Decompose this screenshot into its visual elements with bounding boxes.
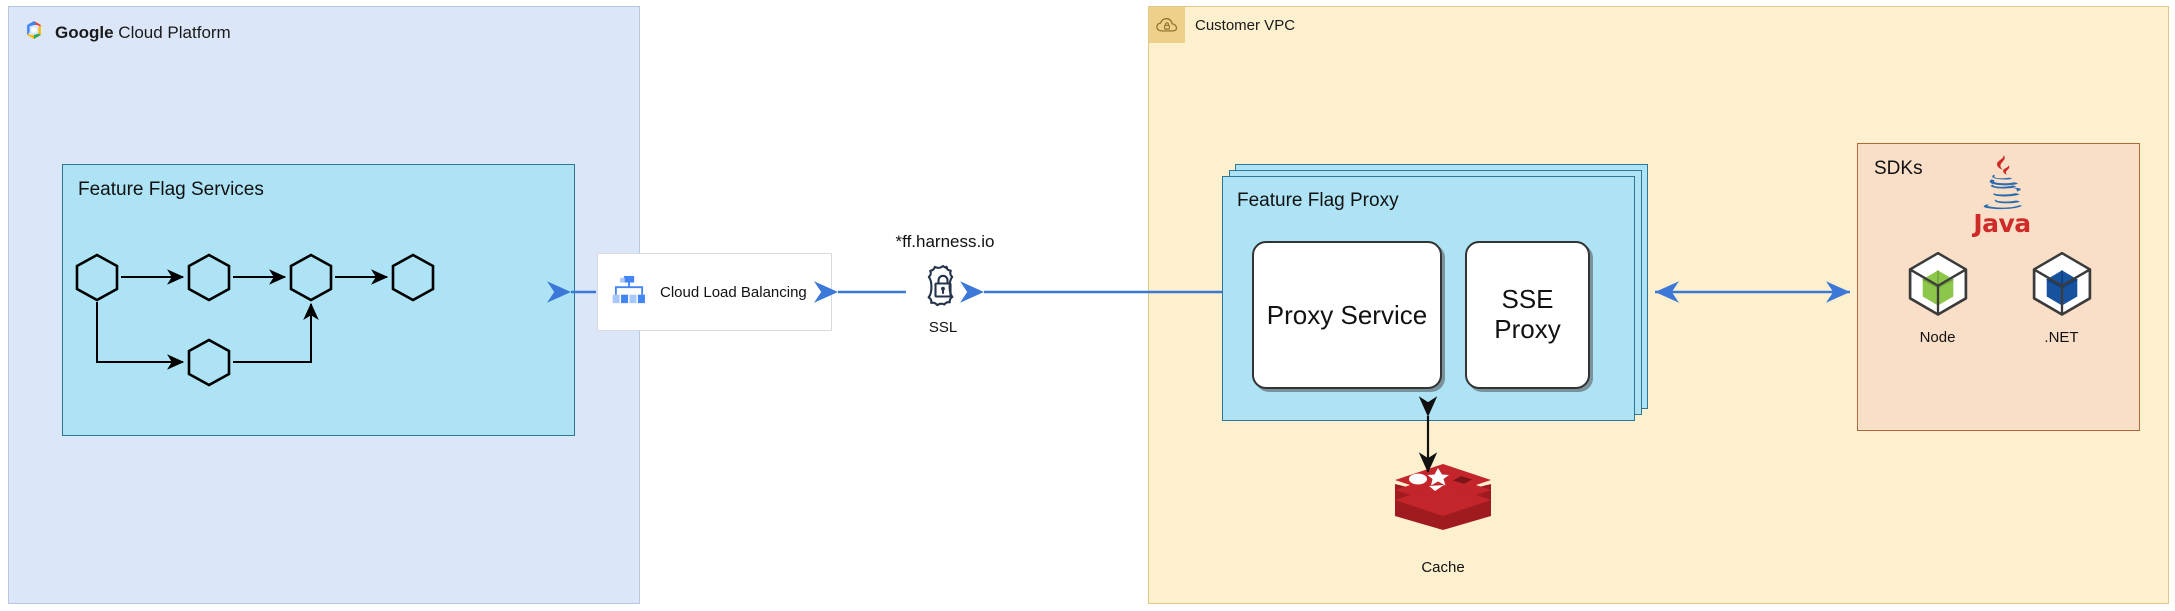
feature-flag-services-graph — [63, 165, 576, 437]
gcp-title: Google Cloud Platform — [55, 23, 231, 43]
cloud-load-balancing-label: Cloud Load Balancing — [660, 284, 807, 301]
proxy-service-card[interactable]: Proxy Service — [1252, 241, 1442, 389]
cache-label: Cache — [1378, 559, 1508, 576]
sdks-box: SDKs Java — [1857, 143, 2140, 431]
hexagon-node-4 — [393, 255, 433, 300]
cloud-lock-icon — [1149, 7, 1185, 43]
ssl-node: SSL — [910, 262, 976, 336]
proxy-service-label: Proxy Service — [1267, 300, 1427, 331]
feature-flag-proxy-label: Feature Flag Proxy — [1237, 190, 1399, 212]
sdk-item-dotnet[interactable]: .NET — [2021, 247, 2103, 346]
cloud-load-balancing-box[interactable]: Cloud Load Balancing — [597, 253, 832, 331]
cache-node: Cache — [1378, 460, 1508, 576]
ssl-label: SSL — [910, 319, 976, 336]
sse-proxy-label-line1: SSE — [1494, 285, 1560, 315]
java-label: Java — [1973, 209, 2030, 238]
sse-proxy-label-line2: Proxy — [1494, 315, 1560, 345]
sdk-cube-row: Node — [1858, 247, 2141, 346]
gcp-brand-rest: Cloud Platform — [114, 23, 231, 42]
google-cloud-platform-panel: Google Cloud Platform Feature Flag Servi… — [8, 6, 640, 604]
dotnet-label: .NET — [2021, 329, 2103, 346]
cloud-load-balancing-icon — [612, 275, 646, 310]
edge-hex5-hex3 — [233, 304, 311, 362]
java-logo-icon: Java — [1964, 149, 2040, 239]
node-cube-icon — [1902, 247, 1974, 319]
sdk-item-node[interactable]: Node — [1897, 247, 1979, 346]
gcp-header: Google Cloud Platform — [23, 19, 231, 46]
ssl-shield-lock-icon — [919, 262, 967, 310]
node-label: Node — [1897, 329, 1979, 346]
google-cloud-logo-icon — [23, 19, 45, 46]
hexagon-node-1 — [77, 255, 117, 300]
dotnet-cube-icon — [2026, 247, 2098, 319]
hexagon-node-3 — [291, 255, 331, 300]
sdks-label: SDKs — [1874, 158, 1923, 180]
redis-logo-icon — [1388, 460, 1498, 548]
feature-flag-proxy-box: Feature Flag Proxy Proxy Service SSE Pro… — [1222, 176, 1635, 421]
hexagon-node-5 — [189, 340, 229, 385]
gcp-brand-bold: Google — [55, 23, 114, 42]
customer-vpc-label: Customer VPC — [1195, 17, 1295, 34]
harness-domain-label: *ff.harness.io — [880, 232, 1010, 252]
diagram-canvas: Google Cloud Platform Feature Flag Servi… — [0, 0, 2175, 611]
hexagon-node-2 — [189, 255, 229, 300]
sse-proxy-card[interactable]: SSE Proxy — [1465, 241, 1590, 389]
feature-flag-services-box: Feature Flag Services — [62, 164, 575, 436]
edge-hex1-hex5 — [97, 302, 183, 362]
